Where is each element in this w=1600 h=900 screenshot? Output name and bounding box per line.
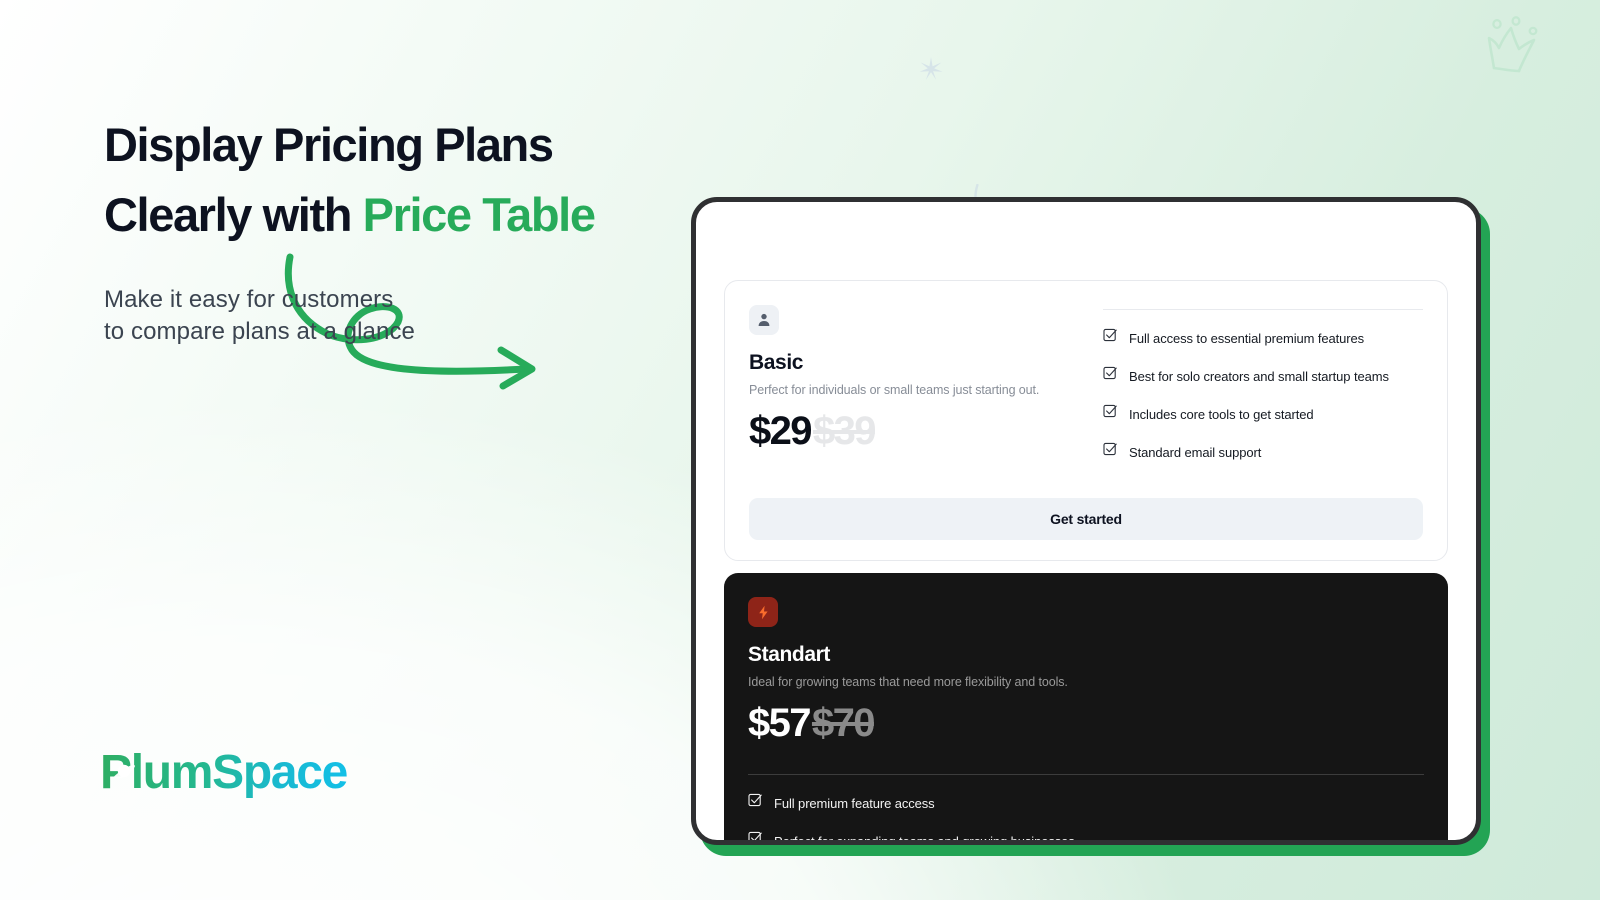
checkbox-check-icon xyxy=(1103,442,1118,462)
page-background: Display Pricing Plans Clearly with Price… xyxy=(0,0,1600,900)
pricing-card-standart: Standart Ideal for growing teams that ne… xyxy=(724,573,1448,845)
checkbox-check-icon xyxy=(1103,366,1118,386)
plan-price-row: $57 $70 xyxy=(748,701,1078,746)
feature-label: Includes core tools to get started xyxy=(1129,407,1314,422)
get-started-button-basic[interactable]: Get started xyxy=(749,498,1423,540)
checkbox-check-icon xyxy=(1103,404,1118,424)
plan-name: Basic xyxy=(749,351,1079,375)
feature-item: Includes core tools to get started xyxy=(1103,404,1423,424)
feature-item: Best for solo creators and small startup… xyxy=(1103,366,1423,386)
checkbox-check-icon xyxy=(1103,328,1118,348)
checkbox-check-icon xyxy=(748,793,763,813)
plan-name: Standart xyxy=(748,643,1078,667)
plan-summary-basic: Basic Perfect for individuals or small t… xyxy=(749,305,1079,462)
feature-list: Full premium feature access Perfect for … xyxy=(748,793,1424,845)
sparkle-icon xyxy=(918,56,944,87)
plan-original-price: $39 xyxy=(813,409,875,454)
headline-line-2-plain: Clearly with xyxy=(104,188,363,241)
pricing-table: Basic Perfect for individuals or small t… xyxy=(696,280,1476,845)
device-frame: Basic Perfect for individuals or small t… xyxy=(691,197,1481,845)
feature-item: Full premium feature access xyxy=(748,793,1424,813)
checkbox-check-icon xyxy=(748,831,763,845)
feature-divider xyxy=(1103,309,1423,310)
hero-subtitle: Make it easy for customers to compare pl… xyxy=(104,284,704,348)
plan-summary-standart: Standart Ideal for growing teams that ne… xyxy=(748,597,1078,746)
plan-current-price: $57 xyxy=(748,701,810,746)
subtitle-line-1: Make it easy for customers xyxy=(104,286,393,313)
feature-item: Perfect for expanding teams and growing … xyxy=(748,831,1424,845)
subtitle-line-2: to compare plans at a glance xyxy=(104,318,415,345)
headline-line-1: Display Pricing Plans xyxy=(104,118,553,171)
planet-icon xyxy=(111,758,137,784)
headline-accent: Price Table xyxy=(363,188,595,241)
hero-text-block: Display Pricing Plans Clearly with Price… xyxy=(104,110,704,348)
lightning-bolt-icon xyxy=(748,597,778,627)
brand-logo[interactable]: PlumSpace xyxy=(100,745,347,800)
feature-item: Standard email support xyxy=(1103,442,1423,462)
brand-logo-text: PlumSpace xyxy=(100,745,347,800)
plan-features-standart: Full premium feature access Perfect for … xyxy=(748,770,1424,845)
feature-label: Full access to essential premium feature… xyxy=(1129,331,1364,346)
plan-current-price: $29 xyxy=(749,409,811,454)
feature-label: Full premium feature access xyxy=(774,796,935,811)
feature-list: Full access to essential premium feature… xyxy=(1103,328,1423,462)
feature-label: Perfect for expanding teams and growing … xyxy=(774,834,1075,846)
pricing-card-basic: Basic Perfect for individuals or small t… xyxy=(724,280,1448,561)
plan-features-basic: Full access to essential premium feature… xyxy=(1103,305,1423,462)
plan-description: Ideal for growing teams that need more f… xyxy=(748,674,1078,690)
plan-original-price: $70 xyxy=(812,701,874,746)
crown-doodle-icon xyxy=(1480,14,1542,89)
feature-label: Standard email support xyxy=(1129,445,1261,460)
feature-label: Best for solo creators and small startup… xyxy=(1129,369,1389,384)
page-title: Display Pricing Plans Clearly with Price… xyxy=(104,110,704,250)
plan-description: Perfect for individuals or small teams j… xyxy=(749,382,1079,398)
feature-divider xyxy=(748,774,1424,775)
plan-price-row: $29 $39 xyxy=(749,409,1079,454)
feature-item: Full access to essential premium feature… xyxy=(1103,328,1423,348)
user-icon xyxy=(749,305,779,335)
